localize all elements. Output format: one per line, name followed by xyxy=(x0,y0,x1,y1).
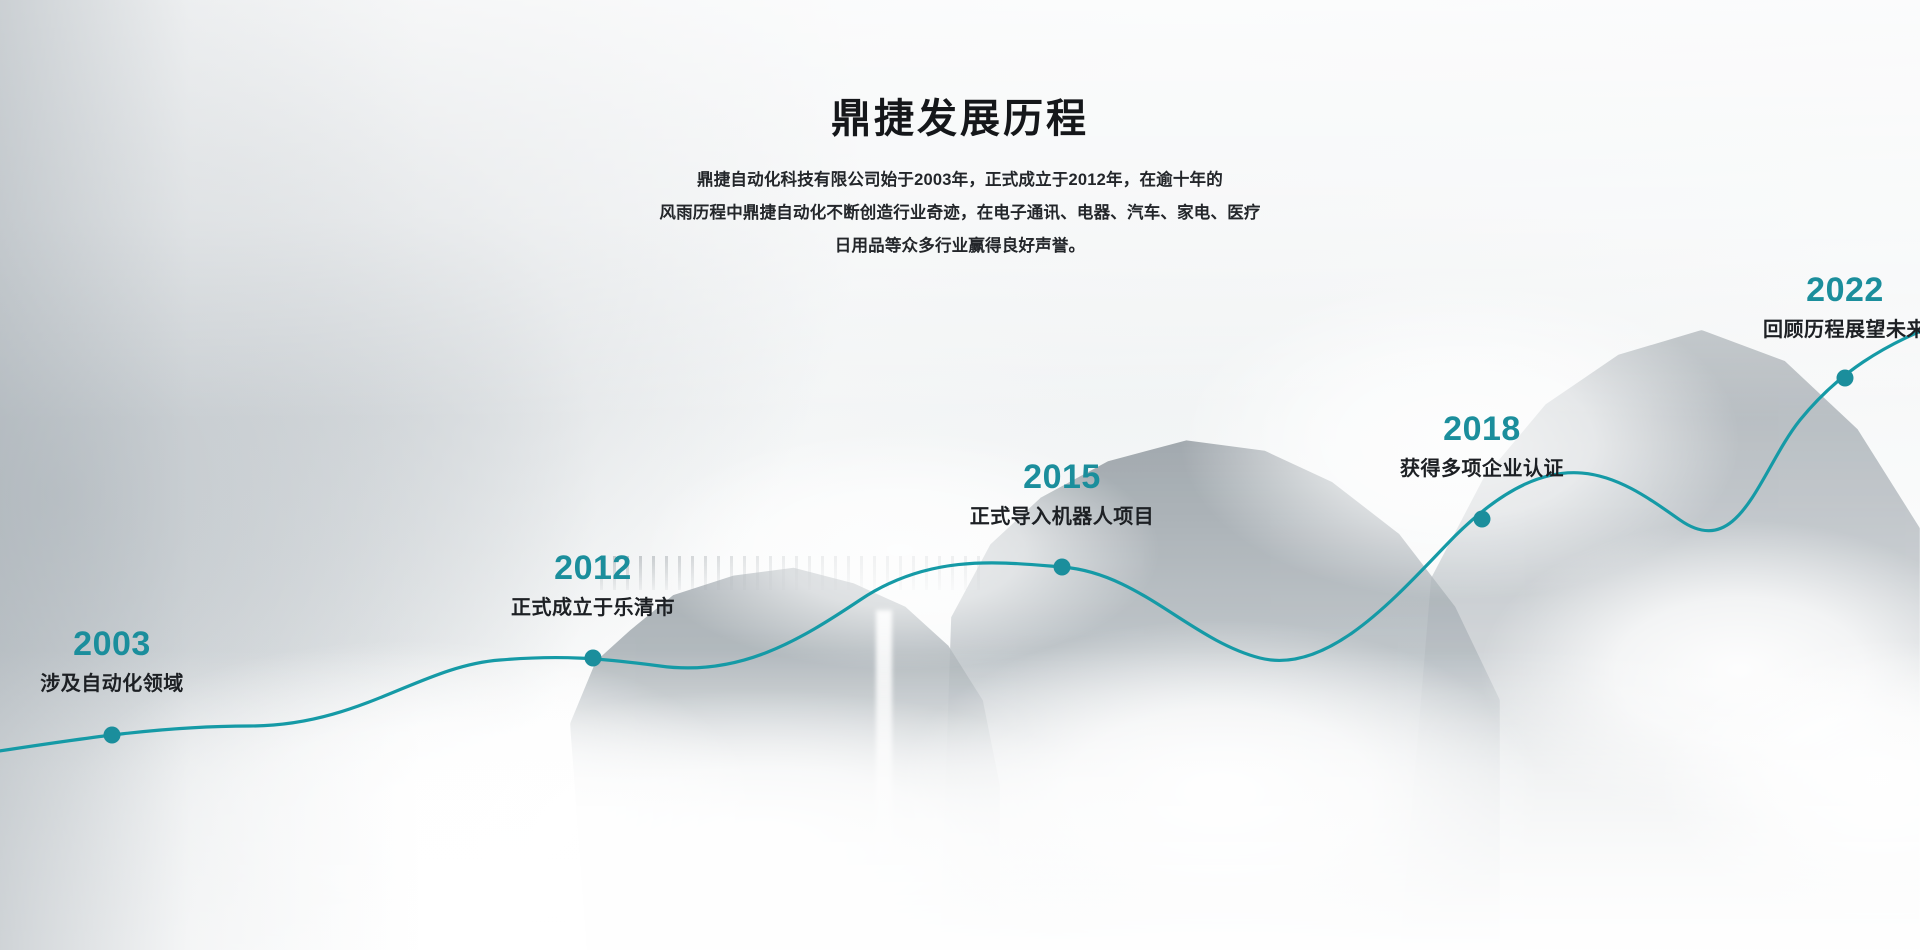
milestone-year: 2018 xyxy=(1400,412,1564,448)
milestone-year: 2015 xyxy=(970,460,1155,496)
subtitle-line-3: 日用品等众多行业赢得良好声誉。 xyxy=(610,230,1310,263)
milestone-label: 涉及自动化领域 xyxy=(40,667,184,696)
milestone-year: 2012 xyxy=(511,551,675,587)
milestone-label: 正式成立于乐清市 xyxy=(511,591,675,620)
page-title: 鼎捷发展历程 xyxy=(0,96,1920,142)
milestone-year: 2003 xyxy=(40,627,184,663)
subtitle-line-2: 风雨历程中鼎捷自动化不断创造行业奇迹，在电子通讯、电器、汽车、家电、医疗 xyxy=(610,197,1310,230)
milestone-year: 2022 xyxy=(1763,273,1920,309)
subtitle-line-1: 鼎捷自动化科技有限公司始于2003年，正式成立于2012年，在逾十年的 xyxy=(610,164,1310,197)
timeline-infographic: 鼎捷发展历程 鼎捷自动化科技有限公司始于2003年，正式成立于2012年，在逾十… xyxy=(0,0,1920,950)
header: 鼎捷发展历程 鼎捷自动化科技有限公司始于2003年，正式成立于2012年，在逾十… xyxy=(0,96,1920,263)
milestone-2012[interactable]: 2012正式成立于乐清市 xyxy=(511,551,675,620)
milestone-2022[interactable]: 2022回顾历程展望未来 xyxy=(1763,273,1920,342)
milestone-2003[interactable]: 2003涉及自动化领域 xyxy=(40,627,184,696)
milestone-2015[interactable]: 2015正式导入机器人项目 xyxy=(970,460,1155,529)
milestone-label: 获得多项企业认证 xyxy=(1400,452,1564,481)
milestone-label: 正式导入机器人项目 xyxy=(970,500,1155,529)
milestone-label: 回顾历程展望未来 xyxy=(1763,313,1920,342)
milestone-2018[interactable]: 2018获得多项企业认证 xyxy=(1400,412,1564,481)
page-subtitle: 鼎捷自动化科技有限公司始于2003年，正式成立于2012年，在逾十年的 风雨历程… xyxy=(610,164,1310,263)
